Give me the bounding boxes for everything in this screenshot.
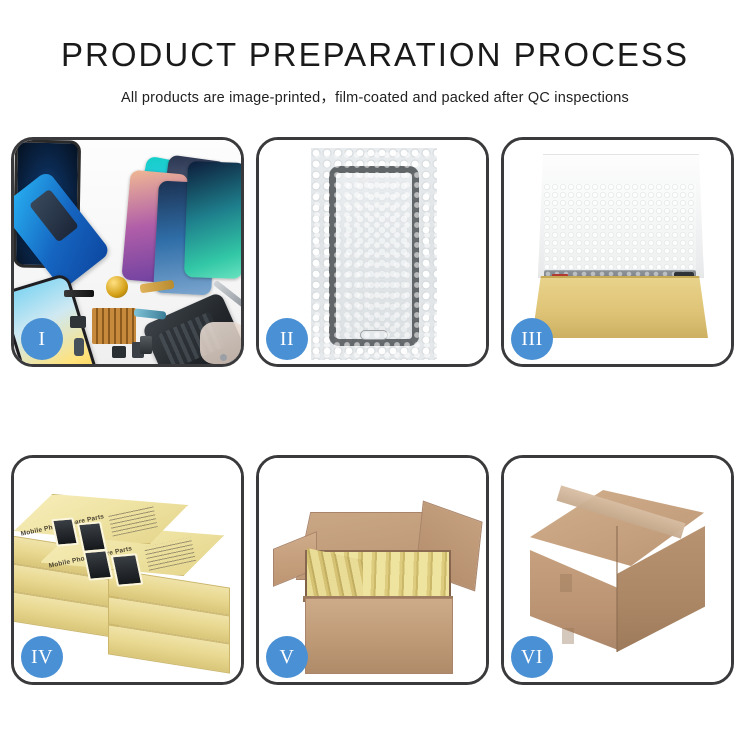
flex-cable-blue-part (134, 308, 167, 319)
step-badge-4: IV (21, 636, 63, 678)
process-panel-3: III (501, 137, 734, 367)
page-title: PRODUCT PREPARATION PROCESS (0, 0, 750, 74)
step-badge-2: II (266, 318, 308, 360)
chip-part-2 (112, 346, 126, 358)
bubble-wrap-sheet (311, 148, 437, 360)
carton-flap-mark (560, 574, 572, 592)
screw-part-2 (230, 360, 237, 364)
phone-screen-glass (329, 166, 419, 346)
camera-module-part (74, 338, 84, 356)
step-badge-1: I (21, 318, 63, 360)
connector-bar-part (64, 290, 94, 297)
process-panel-6: VI (501, 455, 734, 685)
chip-part-1 (70, 316, 86, 328)
kraft-box-body (532, 276, 708, 338)
carton-seam (616, 526, 618, 652)
process-panel-grid: I II III (11, 137, 739, 685)
carton-flap-mark (562, 628, 574, 644)
step-badge-6: VI (511, 636, 553, 678)
process-panel-4: Mobile Phone Spare Parts Mobile Phone Sp… (11, 455, 244, 685)
carton-left-face (530, 550, 618, 650)
coil-part-icon (106, 276, 128, 298)
phone-display-green (184, 161, 241, 279)
page-header: PRODUCT PREPARATION PROCESS All products… (0, 0, 750, 107)
carton-front-face (305, 598, 453, 674)
battery-part (140, 336, 152, 354)
chip-grid-part (92, 308, 136, 344)
process-panel-2: II (256, 137, 489, 367)
step-badge-5: V (266, 636, 308, 678)
process-panel-1: I (11, 137, 244, 367)
step-badge-3: III (511, 318, 553, 360)
process-panel-5: V (256, 455, 489, 685)
foam-padding (544, 184, 696, 278)
page-subtitle: All products are image-printed，film-coat… (0, 74, 750, 107)
screw-part-1 (220, 354, 227, 361)
